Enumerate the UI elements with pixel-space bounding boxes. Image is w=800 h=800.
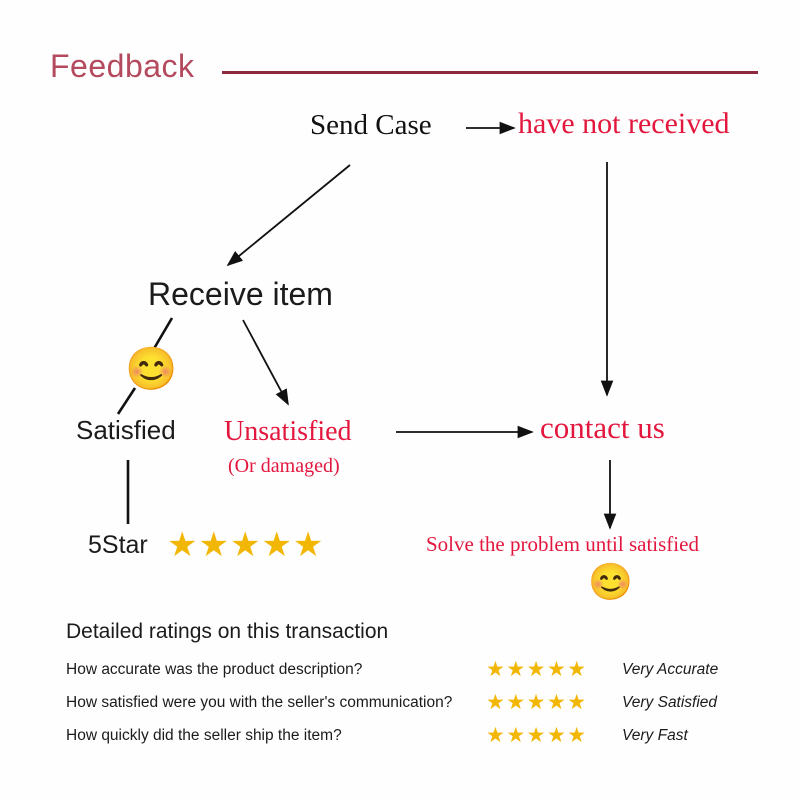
node-send-case: Send Case — [310, 110, 432, 140]
smiling-face-icon: 😊 — [125, 348, 177, 390]
rating-label: Very Satisfied — [614, 694, 717, 712]
arrow-sendcase-to-receive — [228, 165, 350, 265]
rating-question: How satisfied were you with the seller's… — [66, 694, 486, 712]
node-satisfied: Satisfied — [76, 417, 176, 444]
node-have-not-received: have not received — [518, 108, 730, 140]
rating-label: Very Accurate — [614, 661, 718, 679]
node-contact-us: contact us — [540, 412, 665, 445]
rating-row: How quickly did the seller ship the item… — [66, 722, 780, 749]
node-unsatisfied: Unsatisfied — [224, 417, 352, 446]
page-title: Feedback — [50, 50, 195, 82]
arrow-receive-to-unsatisfied — [243, 320, 288, 404]
header-divider — [222, 71, 758, 74]
rating-label: Very Fast — [614, 727, 688, 745]
detailed-ratings-heading: Detailed ratings on this transaction — [66, 620, 780, 644]
feedback-infographic: Feedback Send Case have not received Rec… — [0, 0, 800, 800]
rating-stars-icon: ★★★★★ — [486, 657, 614, 682]
node-unsatisfied-subtitle: (Or damaged) — [228, 456, 340, 477]
smiling-face-icon-solved: 😊 — [588, 564, 633, 600]
rating-row: How accurate was the product description… — [66, 656, 780, 683]
five-star-rating-icon: ★★★★★ — [167, 528, 324, 562]
detailed-ratings-section: Detailed ratings on this transaction How… — [66, 620, 780, 755]
rating-row: How satisfied were you with the seller's… — [66, 689, 780, 716]
node-receive-item: Receive item — [148, 278, 333, 312]
node-solve-problem: Solve the problem until satisfied — [426, 533, 699, 555]
rating-stars-icon: ★★★★★ — [486, 723, 614, 748]
rating-stars-icon: ★★★★★ — [486, 690, 614, 715]
node-5star-label: 5Star — [88, 532, 148, 558]
rating-question: How quickly did the seller ship the item… — [66, 727, 486, 745]
rating-question: How accurate was the product description… — [66, 661, 486, 679]
